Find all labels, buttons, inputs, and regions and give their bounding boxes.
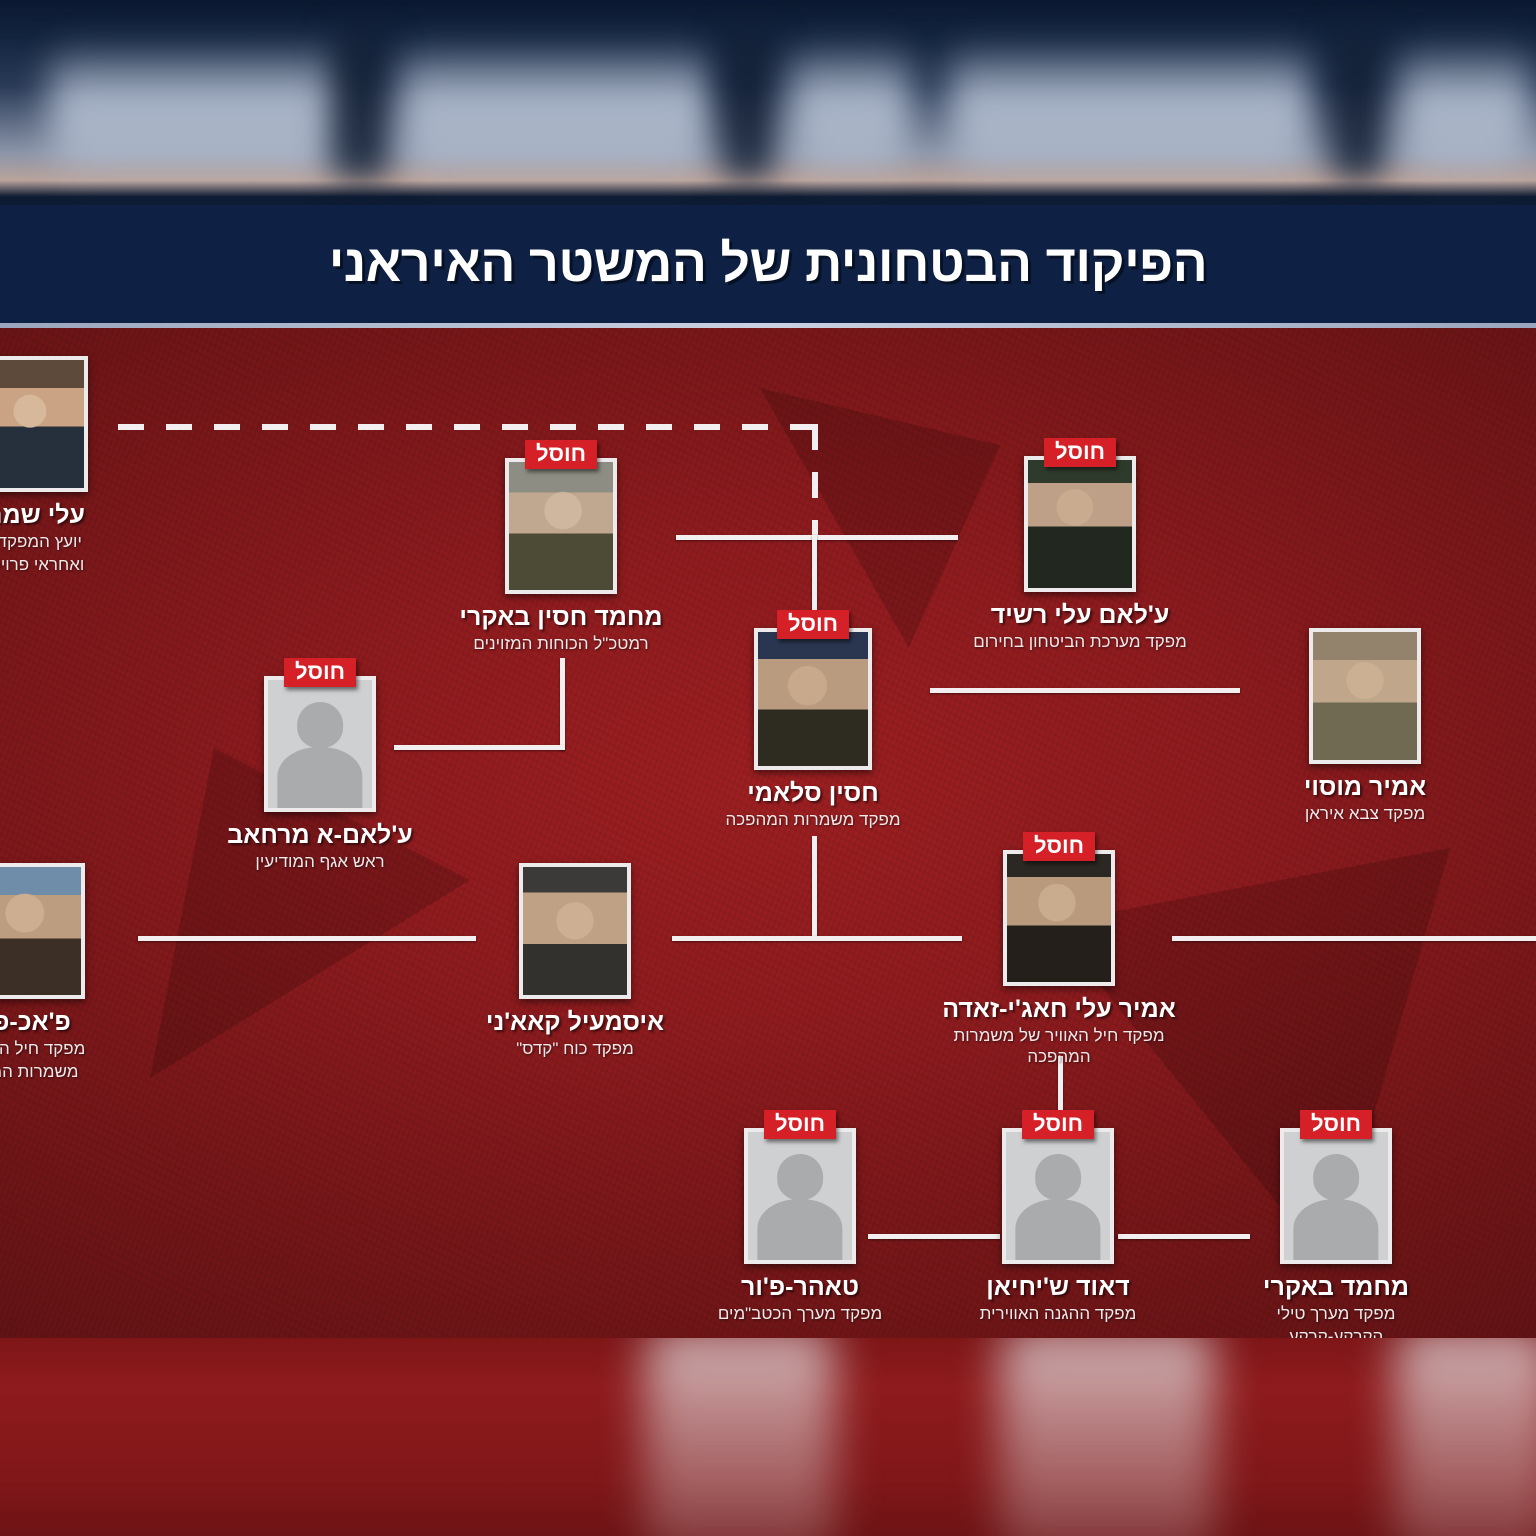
marhab-photo-wrap: חוסל <box>264 676 376 812</box>
node-marhab[interactable]: חוסל ע'לאם-א מרחאב ראש אגף המודיעין <box>208 676 432 873</box>
bagheri-eliminated-badge: חוסל <box>525 440 597 469</box>
portrait-icon <box>1313 632 1417 760</box>
connector-row3-left-outer <box>138 936 476 941</box>
bottom-blurred-strip <box>0 1338 1536 1536</box>
tahirpour-role: מפקד מערך הכטב"מים <box>718 1304 882 1325</box>
portrait-icon <box>0 360 84 488</box>
hajizadeh-photo-wrap: חוסל <box>1003 850 1115 986</box>
connector-dashed-advisor-drop <box>812 424 818 537</box>
portrait-icon <box>509 462 613 590</box>
shamkhani-role-line2: ואחראי פרויקט <box>0 555 84 576</box>
salami-photo-wrap: חוסל <box>754 628 872 770</box>
node-sheikhian[interactable]: חוסל דאוד ש'יחיאן מפקד ההגנה האווירית <box>950 1128 1166 1325</box>
tahirpour-photo <box>744 1128 856 1264</box>
shamkhani-photo <box>0 356 88 492</box>
node-rashid[interactable]: חוסל ע'לאם עלי רשיד מפקד מערכת הביטחון ב… <box>965 456 1195 653</box>
qaani-photo-wrap <box>519 863 631 999</box>
page-title-bar: הפיקוד הבטחונית של המשטר האיראני <box>0 205 1536 323</box>
pakpour-photo-wrap <box>0 863 85 999</box>
mousavi-photo <box>1309 628 1421 764</box>
connector-row3-left-inner <box>672 936 962 941</box>
sheikhian-photo-wrap: חוסל <box>1002 1128 1114 1264</box>
page-title: הפיקוד הבטחונית של המשטר האיראני <box>329 234 1208 294</box>
pakpour-photo <box>0 863 85 999</box>
pakpour-role-line1: מפקד חיל היבש <box>0 1039 85 1060</box>
baqeri-missiles-photo-wrap: חוסל <box>1280 1128 1392 1264</box>
salami-name: חסין סלאמי <box>747 779 879 808</box>
node-salami[interactable]: חוסל חסין סלאמי מפקד משמרות המהפכה <box>700 628 926 831</box>
portrait-icon <box>523 867 627 995</box>
node-pakpour[interactable]: פ'אכ-פ' מפקד חיל היבש משמרות המה <box>0 863 110 1082</box>
shamkhani-photo-wrap <box>0 356 88 492</box>
rashid-photo-wrap: חוסל <box>1024 456 1136 592</box>
node-bagheri[interactable]: חוסל מחמד חסין באקרי רמטכ"ל הכוחות המזוי… <box>455 458 667 655</box>
pakpour-role-line2: משמרות המה <box>0 1062 78 1083</box>
marhab-name: ע'לאם-א מרחאב <box>227 821 412 850</box>
node-baqeri-missiles[interactable]: חוסל מחמד באקרי מפקד מערך טילי הקרקע-קרק… <box>1228 1128 1444 1338</box>
portrait-icon <box>0 867 81 995</box>
silhouette-icon <box>268 680 372 808</box>
connector-dashed-advisor <box>118 424 818 430</box>
marhab-photo <box>264 676 376 812</box>
salami-role: מפקד משמרות המהפכה <box>725 810 900 831</box>
node-mousavi[interactable]: אמיר מוסוי מפקד צבא איראן <box>1252 628 1478 825</box>
node-hajizadeh[interactable]: חוסל אמיר עלי חאג'י-זאדה מפקד חיל האוויר… <box>930 850 1188 1067</box>
baqeri-missiles-photo <box>1280 1128 1392 1264</box>
org-chart-canvas: עלי שמח' יועץ המפקד ה ואחראי פרויקט חוסל… <box>0 328 1536 1338</box>
infographic-root: הפיקוד הבטחונית של המשטר האיראני <box>0 0 1536 1536</box>
marhab-role: ראש אגף המודיעין <box>255 852 384 873</box>
silhouette-icon <box>748 1132 852 1260</box>
bagheri-name: מחמד חסין באקרי <box>459 603 662 632</box>
hajizadeh-role: מפקד חיל האוויר של משמרות המהפכה <box>930 1026 1188 1067</box>
hajizadeh-name: אמיר עלי חאג'י-זאדה <box>942 995 1176 1024</box>
pakpour-name: פ'אכ-פ' <box>0 1008 71 1037</box>
bagheri-photo <box>505 458 617 594</box>
rashid-eliminated-badge: חוסל <box>1044 438 1116 467</box>
qaani-role: מפקד כוח "קדס" <box>516 1039 634 1060</box>
bagheri-role: רמטכ"ל הכוחות המזוינים <box>473 634 648 655</box>
hajizadeh-eliminated-badge: חוסל <box>1023 832 1095 861</box>
connector-row3-right-outer <box>1172 936 1536 941</box>
sheikhian-name: דאוד ש'יחיאן <box>986 1273 1129 1302</box>
mousavi-role: מפקד צבא איראן <box>1305 804 1425 825</box>
tahirpour-photo-wrap: חוסל <box>744 1128 856 1264</box>
silhouette-icon <box>1284 1132 1388 1260</box>
silhouette-icon <box>1006 1132 1110 1260</box>
mousavi-name: אמיר מוסוי <box>1304 773 1426 802</box>
top-blurred-banner <box>0 0 1536 205</box>
shamkhani-name: עלי שמח' <box>0 501 85 530</box>
node-qaani[interactable]: איסמעיל קאא'ני מפקד כוח "קדס" <box>462 863 688 1060</box>
connector-salami-to-mousavi <box>930 688 1240 693</box>
tahirpour-eliminated-badge: חוסל <box>764 1110 836 1139</box>
baqeri-missiles-eliminated-badge: חוסל <box>1300 1110 1372 1139</box>
qaani-photo <box>519 863 631 999</box>
marhab-eliminated-badge: חוסל <box>284 658 356 687</box>
sheikhian-photo <box>1002 1128 1114 1264</box>
connector-row1-bar <box>676 535 958 540</box>
node-tahirpour[interactable]: חוסל טאהר-פ'ור מפקד מערך הכטב"מים <box>692 1128 908 1325</box>
baqeri-missiles-role-line2: הקרקע-קרקע <box>1289 1327 1384 1338</box>
portrait-icon <box>1007 854 1111 982</box>
connector-salami-drop <box>812 836 817 938</box>
salami-eliminated-badge: חוסל <box>777 610 849 639</box>
sheikhian-eliminated-badge: חוסל <box>1022 1110 1094 1139</box>
hajizadeh-photo <box>1003 850 1115 986</box>
salami-photo <box>754 628 872 770</box>
node-shamkhani[interactable]: עלי שמח' יועץ המפקד ה ואחראי פרויקט <box>0 356 112 575</box>
tahirpour-name: טאהר-פ'ור <box>741 1273 859 1302</box>
portrait-icon <box>1028 460 1132 588</box>
sheikhian-role: מפקד ההגנה האווירית <box>980 1304 1137 1325</box>
bagheri-photo-wrap: חוסל <box>505 458 617 594</box>
baqeri-missiles-role-line1: מפקד מערך טילי <box>1277 1304 1396 1325</box>
baqeri-missiles-name: מחמד באקרי <box>1263 1273 1409 1302</box>
qaani-name: איסמעיל קאא'ני <box>486 1008 664 1037</box>
portrait-icon <box>758 632 868 766</box>
connector-bagheri-drop <box>560 658 565 750</box>
rashid-name: ע'לאם עלי רשיד <box>991 601 1170 630</box>
shamkhani-role-line1: יועץ המפקד ה <box>0 532 82 553</box>
mousavi-photo-wrap <box>1309 628 1421 764</box>
rashid-role: מפקד מערכת הביטחון בחירום <box>973 632 1187 653</box>
rashid-photo <box>1024 456 1136 592</box>
